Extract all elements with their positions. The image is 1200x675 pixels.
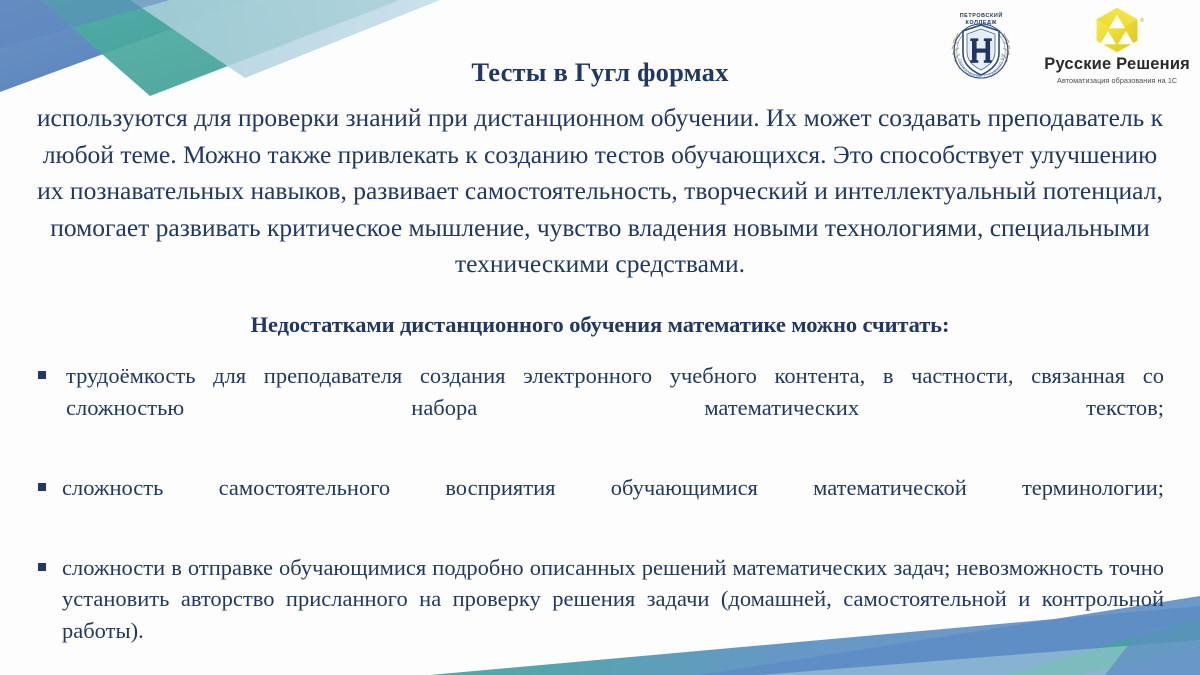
bullet-square-icon <box>38 483 46 491</box>
bullet-square-icon <box>38 371 46 379</box>
list-item: сложности в отправке обучающимися подроб… <box>36 552 1164 675</box>
russian-solutions-logo: ® Русские Решения Автоматизация образова… <box>1044 4 1190 85</box>
petrovsky-college-logo: ОБРАЗОВАНИЕ / LEARNING BY DOING ПЕТРОВСК… <box>944 5 1018 85</box>
russian-solutions-tagline: Автоматизация образования на 1С <box>1057 76 1177 85</box>
logo-group: ОБРАЗОВАНИЕ / LEARNING BY DOING ПЕТРОВСК… <box>944 4 1190 85</box>
svg-text:®: ® <box>1140 17 1144 24</box>
college-name-line1: ПЕТРОВСКИЙ <box>944 13 1018 20</box>
slide-canvas: ОБРАЗОВАНИЕ / LEARNING BY DOING ПЕТРОВСК… <box>0 0 1200 675</box>
list-item-text: трудоёмкость для преподавателя создания … <box>66 360 1164 455</box>
slide-content: Тесты в Гугл формах используются для про… <box>0 0 1200 675</box>
drawbacks-bullet-list: трудоёмкость для преподавателя создания … <box>36 360 1164 675</box>
college-name-line2: КОЛЛЕДЖ <box>944 20 1018 27</box>
list-item-text: сложность самостоятельного восприятия об… <box>62 472 1164 535</box>
list-item: сложность самостоятельного восприятия об… <box>36 472 1164 535</box>
college-seal-wordmark: ПЕТРОВСКИЙ КОЛЛЕДЖ <box>944 13 1018 27</box>
section-subheading: Недостатками дистанционного обучения мат… <box>0 312 1200 338</box>
bullet-square-icon <box>38 563 46 571</box>
list-item: трудоёмкость для преподавателя создания … <box>36 360 1164 455</box>
intro-paragraph: используются для проверки знаний при дис… <box>32 100 1168 283</box>
russian-solutions-name: Русские Решения <box>1044 55 1190 74</box>
list-item-text: сложности в отправке обучающимися подроб… <box>62 552 1164 675</box>
hexagon-logo-icon: ® <box>1090 6 1144 54</box>
